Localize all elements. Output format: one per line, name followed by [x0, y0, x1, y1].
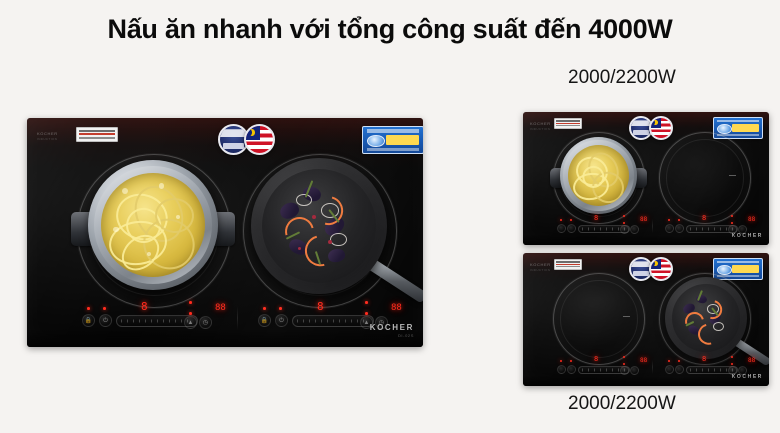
indicator-dot-boost-l [189, 301, 192, 304]
indicator-dot-boost2-r [365, 312, 368, 315]
lock-key-left[interactable]: 🔒 [82, 314, 95, 327]
power-key-right[interactable] [675, 365, 684, 374]
indicator-dot-boost-r [731, 356, 733, 358]
hob-ring-left [553, 273, 645, 365]
boost-key-left[interactable] [620, 366, 629, 375]
indicator-dot-boost2-r [731, 222, 733, 224]
brand-name: KOCHER [732, 233, 763, 239]
timer-display-right: 88 [748, 217, 755, 223]
wok-pan-body [665, 277, 747, 359]
sticker-footer-bar [367, 148, 420, 151]
power-display-left: 8 [594, 356, 598, 363]
lock-key-right[interactable] [665, 224, 674, 233]
inset-cooktop-top: KOCHER INDUCTION [523, 112, 769, 245]
label-line-3 [556, 125, 580, 126]
control-panel[interactable]: 8 88 8 88 [551, 356, 737, 378]
indicator-dot-lock-r [668, 219, 670, 221]
lock-key-right[interactable] [665, 365, 674, 374]
wok-pan-body [251, 158, 387, 294]
malaysia-flag-badge [244, 124, 275, 155]
control-zone-left[interactable]: 8 88 [551, 356, 641, 378]
timer-display-left: 88 [215, 304, 226, 313]
timer-icon: ◷ [203, 320, 208, 326]
indicator-dot-power-l [570, 219, 572, 221]
power-caption-top: 2000/2200W [568, 67, 676, 89]
flag-canton [651, 118, 661, 128]
power-icon: ⏻ [103, 318, 108, 324]
lock-icon: 🔒 [85, 318, 92, 324]
pot-contents-noodles [101, 173, 205, 277]
indicator-dot-power-l [570, 360, 572, 362]
power-key-left[interactable]: ⏻ [99, 314, 112, 327]
label-line-2 [79, 133, 116, 135]
cookware-wok [665, 277, 747, 359]
sticker-rating-badge [732, 265, 758, 273]
timer-key-left[interactable] [630, 225, 639, 234]
pot-body [560, 137, 637, 214]
model-spec-label [554, 118, 582, 129]
energy-rating-sticker [362, 126, 423, 154]
power-display-left: 8 [594, 215, 598, 222]
warranty-text-bar [633, 271, 649, 275]
lock-key-right[interactable]: 🔒 [258, 314, 271, 327]
hob-mark-left [623, 316, 630, 317]
cookware-wok [251, 158, 387, 294]
control-divider [652, 219, 653, 234]
indicator-dot-boost2-l [189, 312, 192, 315]
cookware-pot [560, 137, 637, 214]
pot-contents-noodles [568, 145, 630, 207]
brand-model: DI-02S [370, 333, 414, 338]
flag-canton [651, 259, 661, 269]
power-display-right: 8 [702, 215, 706, 222]
indicator-dot-boost-r [731, 215, 733, 217]
brand-name: KOCHER [732, 374, 763, 380]
silkscreen-brand: KOCHER INDUCTION [37, 131, 58, 142]
indicator-dot-boost-r [365, 301, 368, 304]
power-caption-bottom: 2000/2200W [568, 393, 676, 415]
brand-logo: KOCHER DI-02S [370, 323, 414, 338]
power-display-right: 8 [702, 356, 706, 363]
label-line-3 [556, 266, 580, 267]
control-panel[interactable]: 🔒 ⏻ 8 ▲ ◷ 88 [71, 300, 371, 336]
power-key-left[interactable] [567, 365, 576, 374]
boost-key-left[interactable] [620, 225, 629, 234]
power-display-left: 8 [141, 301, 148, 312]
sticker-dial-icon [717, 124, 731, 134]
power-key-left[interactable] [567, 224, 576, 233]
certification-badges [218, 124, 275, 155]
main-cooktop: KOCHER INDUCTION [27, 118, 423, 347]
sticker-header-bar [367, 129, 420, 132]
silkscreen-brand-name: KOCHER [530, 121, 551, 126]
warranty-banner [220, 129, 247, 137]
indicator-dot-boost-l [623, 215, 625, 217]
timer-display-right: 88 [391, 304, 402, 313]
silkscreen-brand: KOCHER INDUCTION [530, 121, 551, 132]
hob-mark-right [729, 175, 736, 176]
sticker-rating-badge [386, 135, 419, 145]
malaysia-flag-badge [649, 116, 673, 140]
control-divider [652, 360, 653, 375]
model-spec-label [76, 127, 118, 142]
marketing-banner: Nấu ăn nhanh với tổng công suất đến 4000… [0, 0, 780, 433]
sticker-header-bar [717, 261, 759, 264]
brand-name: KOCHER [370, 323, 414, 332]
label-line-2 [556, 264, 580, 265]
indicator-dot-boost-l [623, 356, 625, 358]
wok-contents-seafood [262, 169, 376, 283]
indicator-dot-boost2-r [731, 363, 733, 365]
indicator-dot-lock-l [87, 307, 90, 310]
control-panel[interactable]: 8 88 8 88 [551, 215, 737, 237]
power-icon: ⏻ [279, 318, 284, 324]
model-spec-label [554, 259, 582, 270]
indicator-dot-lock-r [668, 360, 670, 362]
power-display-right: 8 [317, 301, 324, 312]
control-divider [237, 306, 238, 330]
silkscreen-brand: KOCHER INDUCTION [530, 262, 551, 273]
pot-body [88, 160, 218, 290]
boost-icon: ▲ [188, 320, 194, 326]
silkscreen-brand-sub: INDUCTION [37, 137, 58, 142]
timer-display-right: 88 [748, 358, 755, 364]
silkscreen-brand-sub: INDUCTION [530, 127, 551, 132]
page-title: Nấu ăn nhanh với tổng công suất đến 4000… [0, 14, 780, 45]
label-line-3 [79, 137, 116, 139]
boost-key-left[interactable]: ▲ [184, 316, 197, 329]
hob-ring-right [659, 132, 751, 224]
power-key-right[interactable] [675, 224, 684, 233]
flag-canton [246, 126, 260, 140]
sticker-dial-icon [717, 265, 731, 275]
indicator-dot-power-r [678, 360, 680, 362]
warranty-banner [631, 261, 651, 267]
silkscreen-brand-name: KOCHER [37, 131, 58, 136]
sticker-dial-icon [367, 135, 385, 147]
slider-ticks-right [297, 320, 369, 323]
indicator-dot-lock-r [263, 307, 266, 310]
control-zone-left[interactable]: 🔒 ⏻ 8 ▲ ◷ 88 [71, 300, 217, 336]
indicator-dot-lock-l [560, 219, 562, 221]
silkscreen-brand-sub: INDUCTION [530, 268, 551, 273]
lock-icon: 🔒 [261, 318, 268, 324]
slider-ticks-left [121, 320, 193, 323]
indicator-dot-boost2-l [623, 363, 625, 365]
warranty-text-bar [633, 130, 649, 134]
timer-key-left[interactable]: ◷ [199, 316, 212, 329]
indicator-dot-power-l [103, 307, 106, 310]
sticker-rating-badge [732, 124, 758, 132]
label-line-1 [79, 130, 116, 132]
brand-logo: KOCHER [732, 374, 763, 380]
indicator-dot-boost2-l [623, 222, 625, 224]
inset-cooktop-bottom: KOCHER INDUCTION [523, 253, 769, 386]
warranty-banner [631, 120, 651, 126]
boost-icon: ▲ [364, 320, 370, 326]
sticker-header-bar [717, 120, 759, 123]
indicator-dot-lock-l [560, 360, 562, 362]
label-line-2 [556, 123, 580, 124]
label-line-1 [556, 261, 580, 262]
timer-display-left: 88 [640, 217, 647, 223]
lock-key-left[interactable] [557, 365, 566, 374]
brand-logo: KOCHER [732, 233, 763, 239]
wok-contents-seafood [672, 284, 741, 353]
power-key-right[interactable]: ⏻ [275, 314, 288, 327]
timer-key-left[interactable] [630, 366, 639, 375]
cookware-pot [88, 160, 218, 290]
lock-key-left[interactable] [557, 224, 566, 233]
timer-display-left: 88 [640, 358, 647, 364]
silkscreen-brand-name: KOCHER [530, 262, 551, 267]
warranty-text-bar [223, 143, 245, 149]
control-zone-left[interactable]: 8 88 [551, 215, 641, 237]
indicator-dot-power-r [279, 307, 282, 310]
indicator-dot-power-r [678, 219, 680, 221]
label-line-1 [556, 120, 580, 121]
